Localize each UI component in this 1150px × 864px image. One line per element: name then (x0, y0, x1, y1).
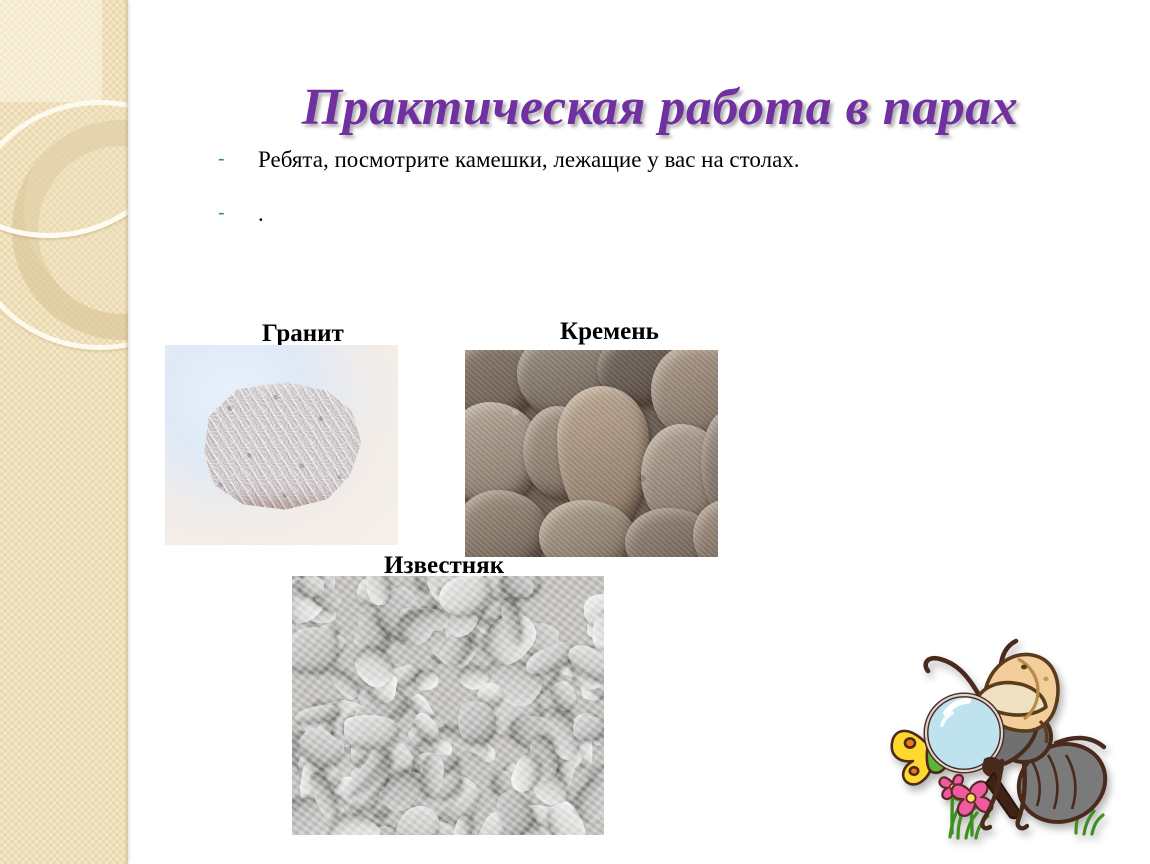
limestone-chunk (572, 714, 604, 742)
decorative-side-panel (0, 0, 128, 864)
limestone-photo (292, 576, 604, 835)
limestone-chunk (415, 670, 440, 691)
list-item: - . (218, 200, 1098, 234)
granite-label: Гранит (262, 320, 344, 348)
bullet-dash-icon: - (218, 146, 258, 172)
list-item: - Ребята, посмотрите камешки, лежащие у … (218, 146, 1098, 180)
limestone-chunk (408, 608, 449, 631)
granite-rock-shape (201, 379, 363, 511)
panel-edge-shadow (124, 0, 128, 864)
ant-clipart (880, 625, 1142, 855)
flint-stone (465, 490, 547, 557)
limestone-chunk (292, 625, 339, 673)
slide-canvas: Практическая работа в парах - Ребята, по… (0, 0, 1150, 864)
granite-photo (165, 345, 398, 545)
bullet-text: Ребята, посмотрите камешки, лежащие у ва… (258, 146, 800, 173)
bullet-dash-icon: - (218, 200, 258, 226)
slide-title: Практическая работа в парах (190, 78, 1130, 137)
flint-photo (465, 350, 718, 557)
bullet-text: . (258, 200, 264, 227)
panel-ring-medium-icon (0, 100, 128, 350)
limestone-chunk (344, 714, 400, 749)
flint-label: Кремень (560, 318, 659, 346)
bullet-list: - Ребята, посмотрите камешки, лежащие у … (218, 146, 1098, 234)
